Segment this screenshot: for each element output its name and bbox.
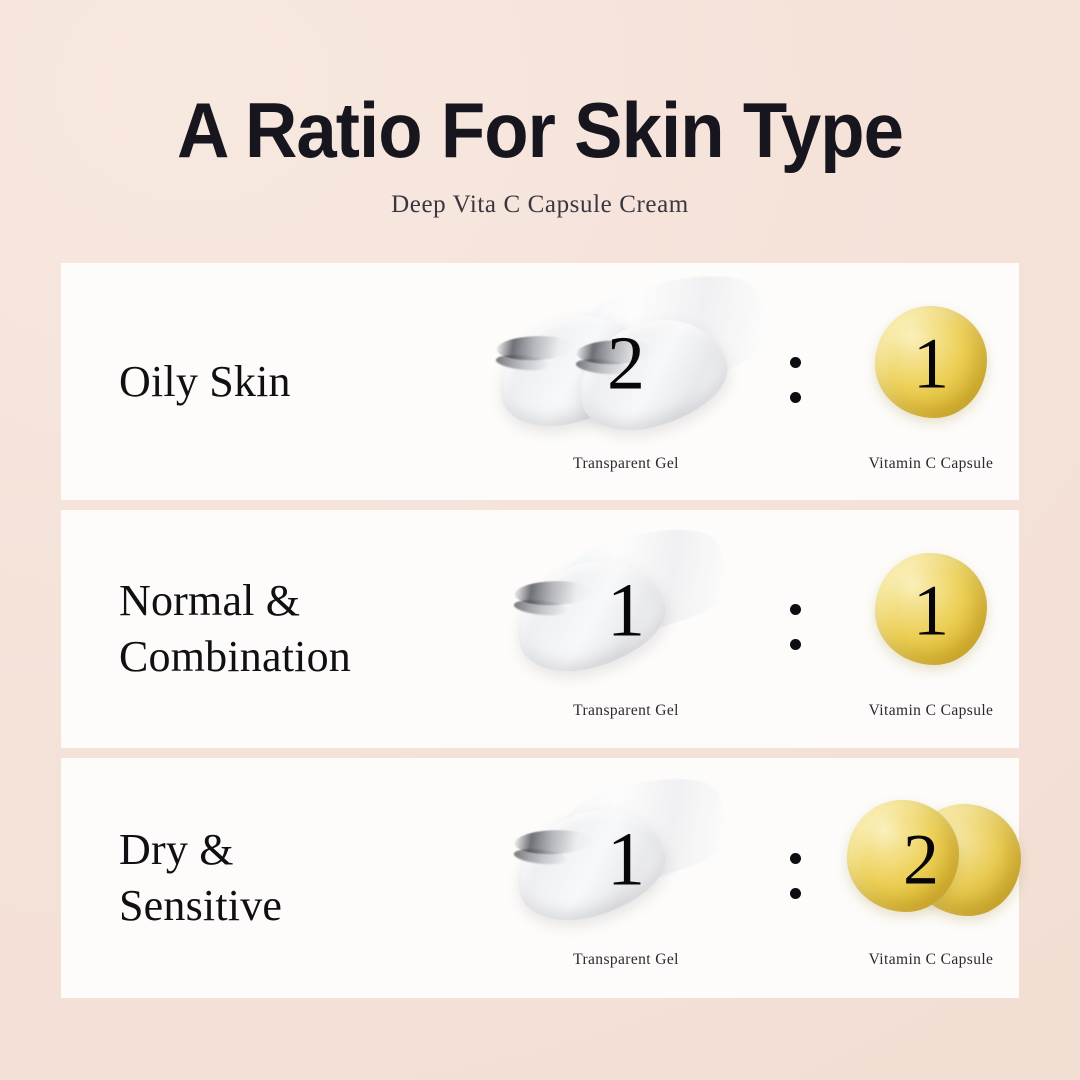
capsule-label: Vitamin C Capsule bbox=[869, 950, 994, 970]
capsule-slot: 1 Vitamin C Capsule bbox=[836, 510, 1026, 748]
page-title: A Ratio For Skin Type bbox=[38, 86, 1042, 174]
gel-label: Transparent Gel bbox=[573, 454, 679, 474]
gel-slot: 1 Transparent Gel bbox=[481, 758, 771, 998]
page-subtitle: Deep Vita C Capsule Cream bbox=[0, 190, 1080, 220]
colon-dot-bottom bbox=[790, 392, 801, 403]
colon-dot-top bbox=[790, 604, 801, 615]
skin-type-name: Oily Skin bbox=[119, 263, 479, 500]
vitamin-c-capsule-icon: 2 bbox=[836, 786, 1026, 936]
capsule-label: Vitamin C Capsule bbox=[869, 454, 994, 474]
capsule-count-value: 1 bbox=[893, 325, 969, 401]
capsule-label: Vitamin C Capsule bbox=[869, 701, 994, 721]
colon-dot-bottom bbox=[790, 639, 801, 650]
ratio-separator-icon bbox=[786, 847, 806, 909]
vitamin-c-capsule-icon: 1 bbox=[836, 290, 1026, 440]
colon-dot-bottom bbox=[790, 888, 801, 899]
gel-label: Transparent Gel bbox=[573, 950, 679, 970]
skin-type-line-1: Dry & bbox=[119, 822, 479, 878]
gel-slot: 2 Transparent Gel bbox=[481, 263, 771, 500]
header: A Ratio For Skin Type Deep Vita C Capsul… bbox=[0, 86, 1080, 220]
capsule-count-value: 1 bbox=[893, 572, 969, 648]
capsule-slot: 2 Vitamin C Capsule bbox=[836, 758, 1026, 998]
ratio-rows: Oily Skin 2 Transparent Gel bbox=[61, 263, 1019, 998]
ratio-separator-icon bbox=[786, 351, 806, 413]
skin-type-name: Normal & Combination bbox=[119, 510, 479, 748]
skin-type-line-2: Combination bbox=[119, 629, 479, 685]
gel-count-value: 1 bbox=[588, 572, 664, 648]
transparent-gel-icon: 1 bbox=[481, 786, 771, 936]
colon-dot-top bbox=[790, 853, 801, 864]
ratio-row-oily-skin: Oily Skin 2 Transparent Gel bbox=[61, 263, 1019, 500]
infographic-poster: A Ratio For Skin Type Deep Vita C Capsul… bbox=[0, 0, 1080, 1080]
colon-dot-top bbox=[790, 357, 801, 368]
gel-count-value: 1 bbox=[588, 821, 664, 897]
ratio-cluster: 1 Transparent Gel 1 Vitamin C Caps bbox=[481, 510, 1019, 748]
gel-label: Transparent Gel bbox=[573, 701, 679, 721]
ratio-cluster: 2 Transparent Gel 1 Vitamin C Caps bbox=[481, 263, 1019, 500]
capsule-slot: 1 Vitamin C Capsule bbox=[836, 263, 1026, 500]
transparent-gel-icon: 2 bbox=[481, 290, 771, 440]
gel-slot: 1 Transparent Gel bbox=[481, 510, 771, 748]
vitamin-c-capsule-icon: 1 bbox=[836, 537, 1026, 687]
skin-type-line-1: Oily Skin bbox=[119, 354, 479, 410]
transparent-gel-icon: 1 bbox=[481, 537, 771, 687]
skin-type-line-1: Normal & bbox=[119, 573, 479, 629]
skin-type-line-2: Sensitive bbox=[119, 878, 479, 934]
capsule-count-value: 2 bbox=[883, 821, 959, 897]
skin-type-name: Dry & Sensitive bbox=[119, 758, 479, 998]
ratio-cluster: 1 Transparent Gel 2 bbox=[481, 758, 1019, 998]
ratio-separator-icon bbox=[786, 598, 806, 660]
ratio-row-normal-combination: Normal & Combination 1 Transparent Gel bbox=[61, 510, 1019, 748]
ratio-row-dry-sensitive: Dry & Sensitive 1 Transparent Gel bbox=[61, 758, 1019, 998]
gel-count-value: 2 bbox=[588, 325, 664, 401]
